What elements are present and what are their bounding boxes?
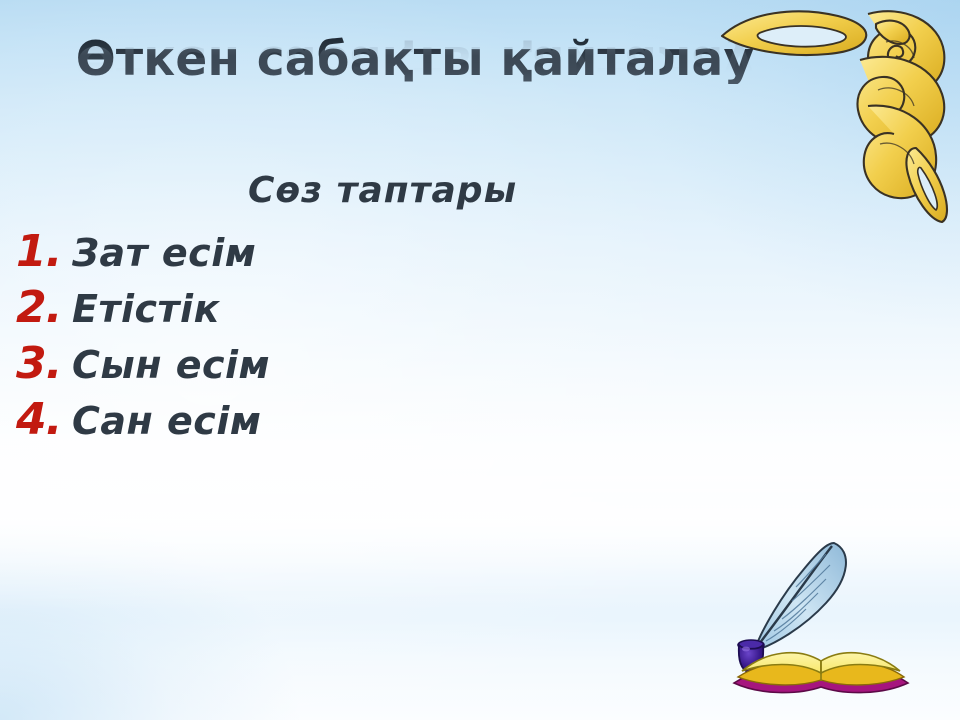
word-classes-list: 1. Зат есім 2. Етістік 3. Сын есім 4. Са… [16, 226, 536, 450]
open-book-with-quill-icon [726, 537, 916, 702]
list-item-label: Зат есім [72, 231, 256, 275]
background-top-right-tint [540, 0, 960, 420]
quill-feather [752, 543, 846, 653]
open-book [734, 653, 908, 693]
inkwell [738, 640, 764, 673]
list-item-label: Етістік [72, 287, 220, 331]
list-item-number: 1. [16, 226, 72, 277]
list-item: 1. Зат есім [16, 226, 536, 282]
list-item: 4. Сан есім [16, 394, 536, 450]
slide-subtitle: Сөз таптары [248, 170, 517, 211]
list-item-number: 4. [16, 394, 72, 445]
list-item-label: Сын есім [72, 343, 270, 387]
list-item: 2. Етістік [16, 282, 536, 338]
slide-title-reflection: Өткен сабақты қайталау [0, 38, 830, 86]
gold-celtic-knot-corner-icon [718, 0, 958, 223]
list-item-label: Сан есім [72, 399, 261, 443]
list-item-number: 2. [16, 282, 72, 333]
list-item: 3. Сын есім [16, 338, 536, 394]
background-bottom-left-tint [0, 460, 340, 720]
slide-title-block: Өткен сабақты қайталау Өткен сабақты қай… [0, 36, 830, 134]
presentation-slide: Өткен сабақты қайталау Өткен сабақты қай… [0, 0, 960, 720]
slide-title: Өткен сабақты қайталау [0, 36, 830, 84]
background-horizon-band [0, 430, 960, 610]
list-item-number: 3. [16, 338, 72, 389]
